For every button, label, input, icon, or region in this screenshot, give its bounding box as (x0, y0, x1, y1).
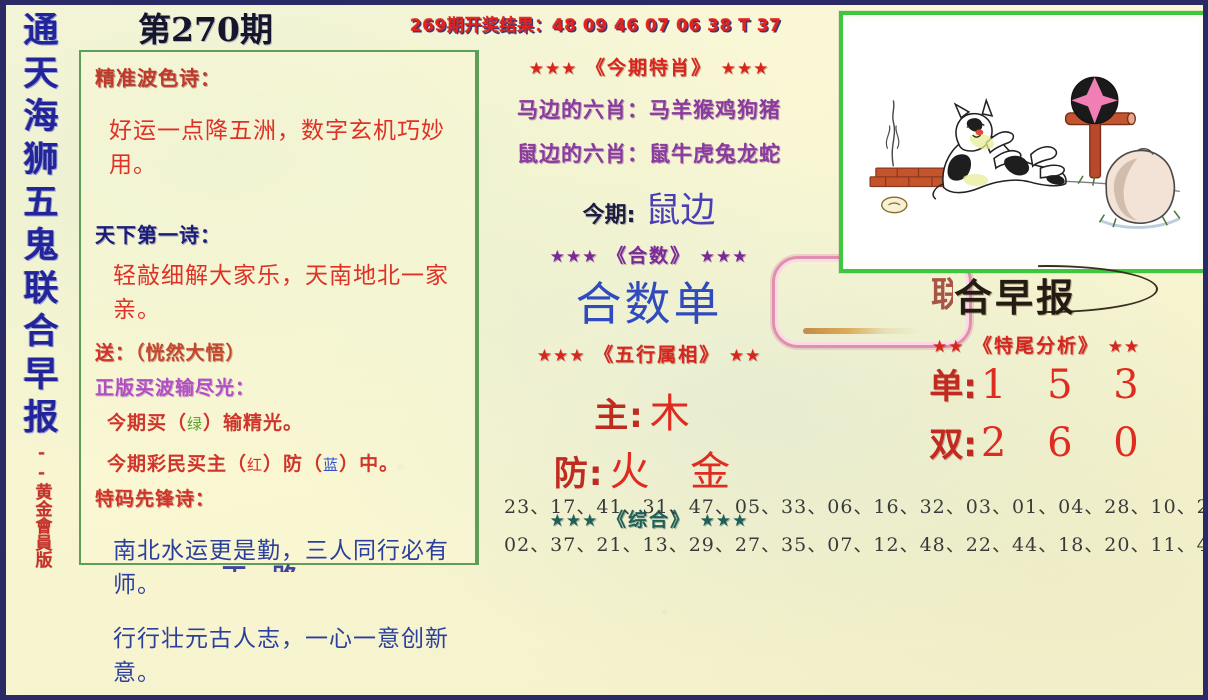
current-period-value: 鼠边 (645, 182, 715, 233)
section-title-special-poem: 特码先锋诗： (95, 484, 461, 511)
stars-left: ★★★ (537, 346, 586, 366)
wuxing-main-value: 木 (650, 381, 704, 439)
bottom-cropped-text: 正 路 (221, 558, 306, 572)
header-teiwei-label: 《特尾分析》 (973, 335, 1099, 357)
issue-prefix: 第 (138, 10, 171, 49)
brand-char: 狮 (23, 138, 58, 181)
left-content-box: 精准波色诗： 好运一点降五洲，数字玄机巧妙用。 天下第一诗： 轻敲细解大家乐，天… (79, 50, 477, 565)
odd-row: 单: 1 5 3 (906, 357, 1176, 415)
header-wuxing-label: 《五行属相》 (594, 344, 720, 366)
color-tag-blue: 蓝 (323, 456, 339, 474)
gift-label: 送： (95, 342, 135, 364)
bose-poem-text: 好运一点降五洲，数字玄机巧妙用。 (95, 111, 461, 179)
header-hesu: ★★★ 《合数》 ★★★ (484, 241, 814, 268)
brand-char: 鬼 (23, 224, 58, 267)
hesu-value: 合数单 (484, 276, 814, 332)
brand-char: 早 (23, 353, 58, 396)
tail-analysis-rows: 单: 1 5 3 双: 2 6 0 (906, 357, 1176, 473)
wuxing-main-row: 主: 木 (484, 381, 814, 439)
stars-right: ★★★ (721, 59, 770, 79)
brand-char: 海 (23, 95, 58, 138)
header-teiwei: ★★ 《特尾分析》 ★★ (932, 335, 1140, 357)
brand-strip: 通 天 海 狮 五 鬼 联 合 早 报 --黄金會員版 (12, 9, 70, 589)
lottery-poster: 通 天 海 狮 五 鬼 联 合 早 报 --黄金會員版 第270期 269期开奖… (0, 0, 1208, 700)
brand-char: 通 (23, 9, 58, 52)
section-title-bose-poem: 精准波色诗： (95, 62, 461, 91)
even-value: 2 6 0 (981, 415, 1153, 471)
buy-line-2-prefix: 今期彩民买主（ (107, 453, 247, 475)
right-title-text: 合早报 (954, 267, 1077, 322)
header-teiwei-wrap: ★★ 《特尾分析》 ★★ (906, 331, 1166, 358)
zodiac-row-shu: 鼠边的六肖：鼠牛虎兔龙蛇 (484, 138, 814, 168)
header-wuxing: ★★★ 《五行属相》 ★★ (484, 340, 814, 367)
middle-column: ★★★ 《今期特肖》 ★★★ 马边的六肖：马羊猴鸡狗猪 鼠边的六肖：鼠牛虎兔龙蛇… (484, 53, 814, 532)
brand-subtitle: --黄金會員版 (32, 443, 51, 568)
first-poem-text: 轻敲细解大家乐，天南地北一家亲。 (95, 256, 461, 324)
even-row: 双: 2 6 0 (906, 415, 1176, 473)
brand-char: 合 (23, 310, 58, 353)
buy-line-2-mid: ）防（ (263, 453, 323, 475)
stars-right: ★★ (1108, 337, 1140, 357)
stars-left: ★★★ (550, 247, 599, 267)
stars-left: ★★ (932, 337, 964, 357)
header-texiao: ★★★ 《今期特肖》 ★★★ (484, 53, 814, 80)
buy-line-1-prefix: 今期买（ (107, 412, 187, 434)
wuxing-main-label: 主: (594, 388, 644, 437)
header-texiao-label: 《今期特肖》 (586, 57, 712, 79)
stars-right: ★★★ (700, 247, 749, 267)
issue-title: 第270期 (138, 11, 273, 49)
brand-char: 天 (23, 52, 58, 95)
odd-value: 1 5 3 (981, 357, 1153, 413)
gift-line: 送：（恍然大悟） (95, 338, 461, 365)
vertical-divider (477, 50, 479, 565)
current-period-pick: 今期: 鼠边 (484, 182, 814, 233)
section-title-buy-bose: 正版买波输尽光： (95, 373, 461, 400)
zodiac-row-ma: 马边的六肖：马羊猴鸡狗猪 (484, 94, 814, 124)
recommended-numbers: 23、17、41、31、47、05、33、06、16、32、03、01、04、2… (504, 488, 1204, 564)
pink-box-smear (803, 328, 921, 334)
buy-line-1: 今期买（绿）输精光。 (95, 408, 461, 435)
brand-char: 报 (23, 396, 58, 439)
buy-line-2: 今期彩民买主（红）防（蓝）中。 (95, 449, 461, 476)
buy-line-2-suffix: ）中。 (339, 453, 399, 475)
gift-value: （恍然大悟） (135, 342, 246, 364)
odd-label: 单: (929, 359, 977, 415)
buy-line-1-suffix: ）输精光。 (203, 412, 303, 434)
current-period-label: 今期: (583, 197, 636, 229)
cat-rolling-cartoon-icon (849, 21, 1199, 263)
color-tag-red: 红 (247, 456, 263, 474)
numbers-row-2: 02、37、21、13、29、27、35、07、12、48、22、44、18、2… (504, 526, 1204, 564)
brand-char: 联 (23, 267, 58, 310)
stars-right: ★★ (729, 346, 761, 366)
issue-number: 270 (171, 10, 240, 49)
section-title-first-poem: 天下第一诗： (95, 219, 461, 248)
previous-draw-result: 269期开奖结果：48 09 46 07 06 38 T 37 (410, 15, 782, 37)
color-tag-green: 绿 (187, 415, 203, 433)
right-title-group: 合早报 (936, 267, 1166, 313)
numbers-row-1: 23、17、41、31、47、05、33、06、16、32、03、01、04、2… (504, 488, 1204, 526)
header-hesu-label: 《合数》 (607, 245, 691, 267)
brand-char: 五 (23, 181, 58, 224)
special-poem-line-2: 行行壮元古人志，一心一意创新意。 (95, 619, 461, 687)
illustration-canvas (849, 21, 1199, 263)
illustration-frame (839, 11, 1208, 273)
stars-left: ★★★ (529, 59, 578, 79)
issue-suffix: 期 (240, 10, 273, 49)
even-label: 双: (929, 417, 977, 473)
